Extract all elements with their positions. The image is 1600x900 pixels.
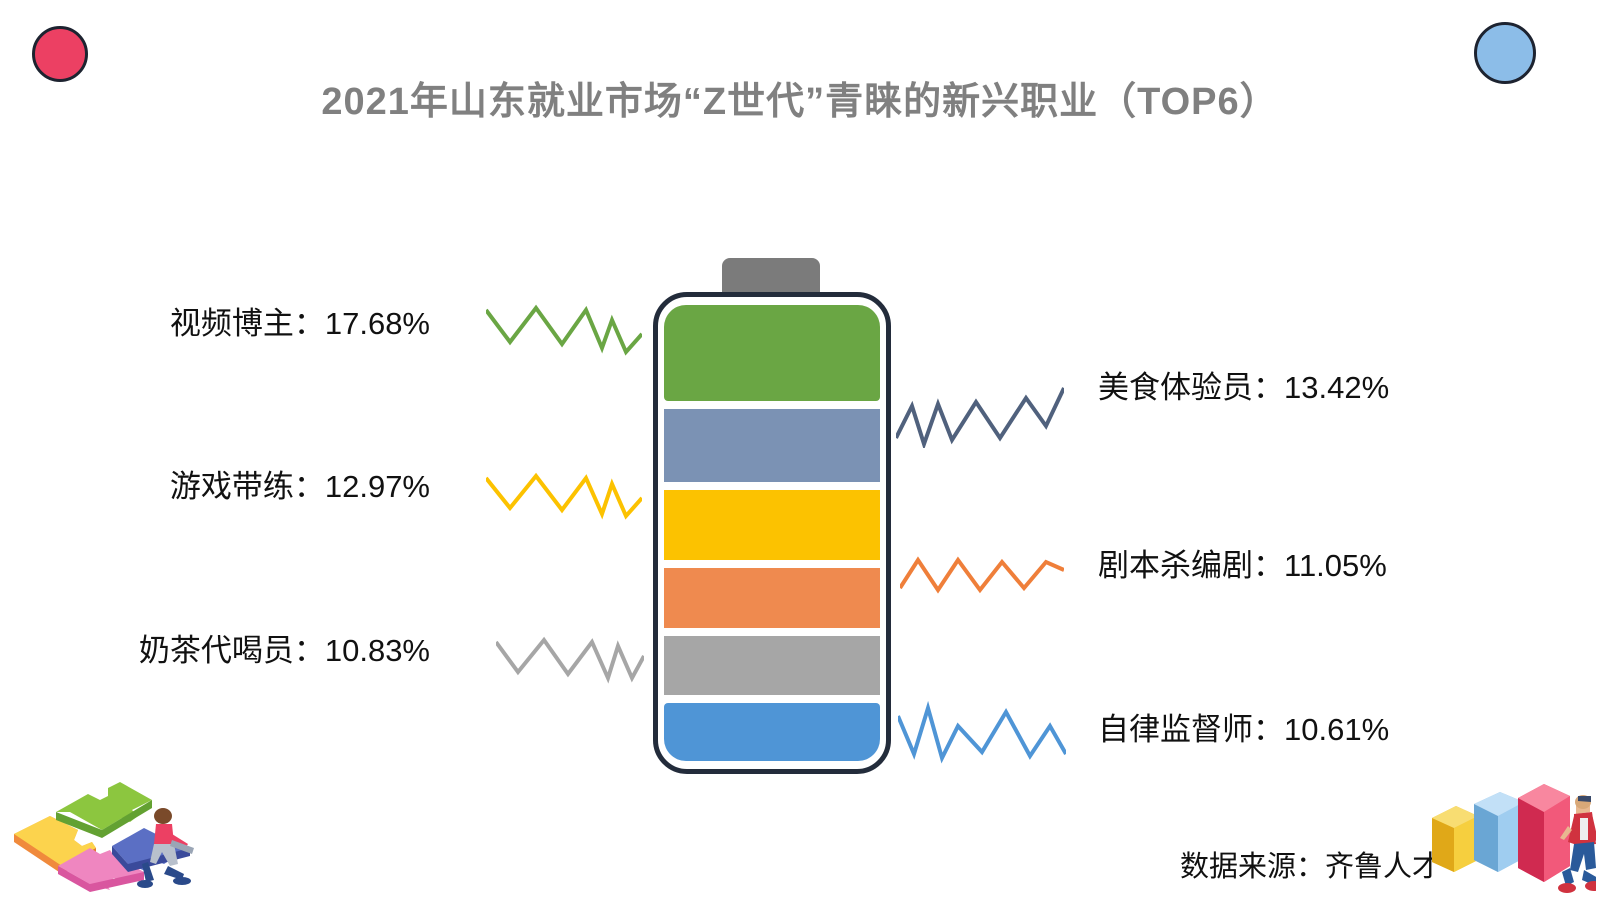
- label-murder-mystery-writer: 剧本杀编剧：11.05%: [1098, 540, 1387, 585]
- battery-segment-stack: [664, 305, 880, 761]
- label-game-coach: 游戏带练：12.97%: [170, 461, 430, 506]
- zigzag-blue-connector: [898, 700, 1066, 766]
- data-source-text: 数据来源：齐鲁人才: [1180, 843, 1441, 885]
- battery-segment-murder-mystery: [664, 568, 880, 628]
- battery-segment-self-discipline-supervisor: [664, 703, 880, 761]
- battery-segment-milk-tea-drinker: [664, 636, 880, 695]
- zigzag-green-connector: [486, 300, 642, 362]
- bar-chart-person-illustration: [1428, 782, 1596, 898]
- zigzag-yellow-connector: [486, 466, 642, 524]
- label-video-blogger: 视频博主：17.68%: [170, 298, 430, 343]
- battery-segment-game-coach: [664, 490, 880, 560]
- label-food-taster: 美食体验员：13.42%: [1098, 362, 1389, 407]
- label-self-discipline-supervisor: 自律监督师：10.61%: [1098, 704, 1389, 749]
- zigzag-slate-connector: [896, 382, 1064, 448]
- battery-segment-food-taster: [664, 409, 880, 482]
- puzzle-pieces-illustration: [4, 768, 194, 896]
- label-milk-tea-drinker: 奶茶代喝员：10.83%: [139, 625, 430, 670]
- zigzag-orange-connector: [900, 548, 1064, 596]
- zigzag-gray-connector: [496, 628, 644, 686]
- page-title: 2021年山东就业市场“Z世代”青睐的新兴职业（TOP6）: [0, 70, 1600, 125]
- infographic-canvas: 2021年山东就业市场“Z世代”青睐的新兴职业（TOP6） 视频博主：17.68…: [0, 0, 1600, 900]
- battery-segment-video-blogger: [664, 305, 880, 401]
